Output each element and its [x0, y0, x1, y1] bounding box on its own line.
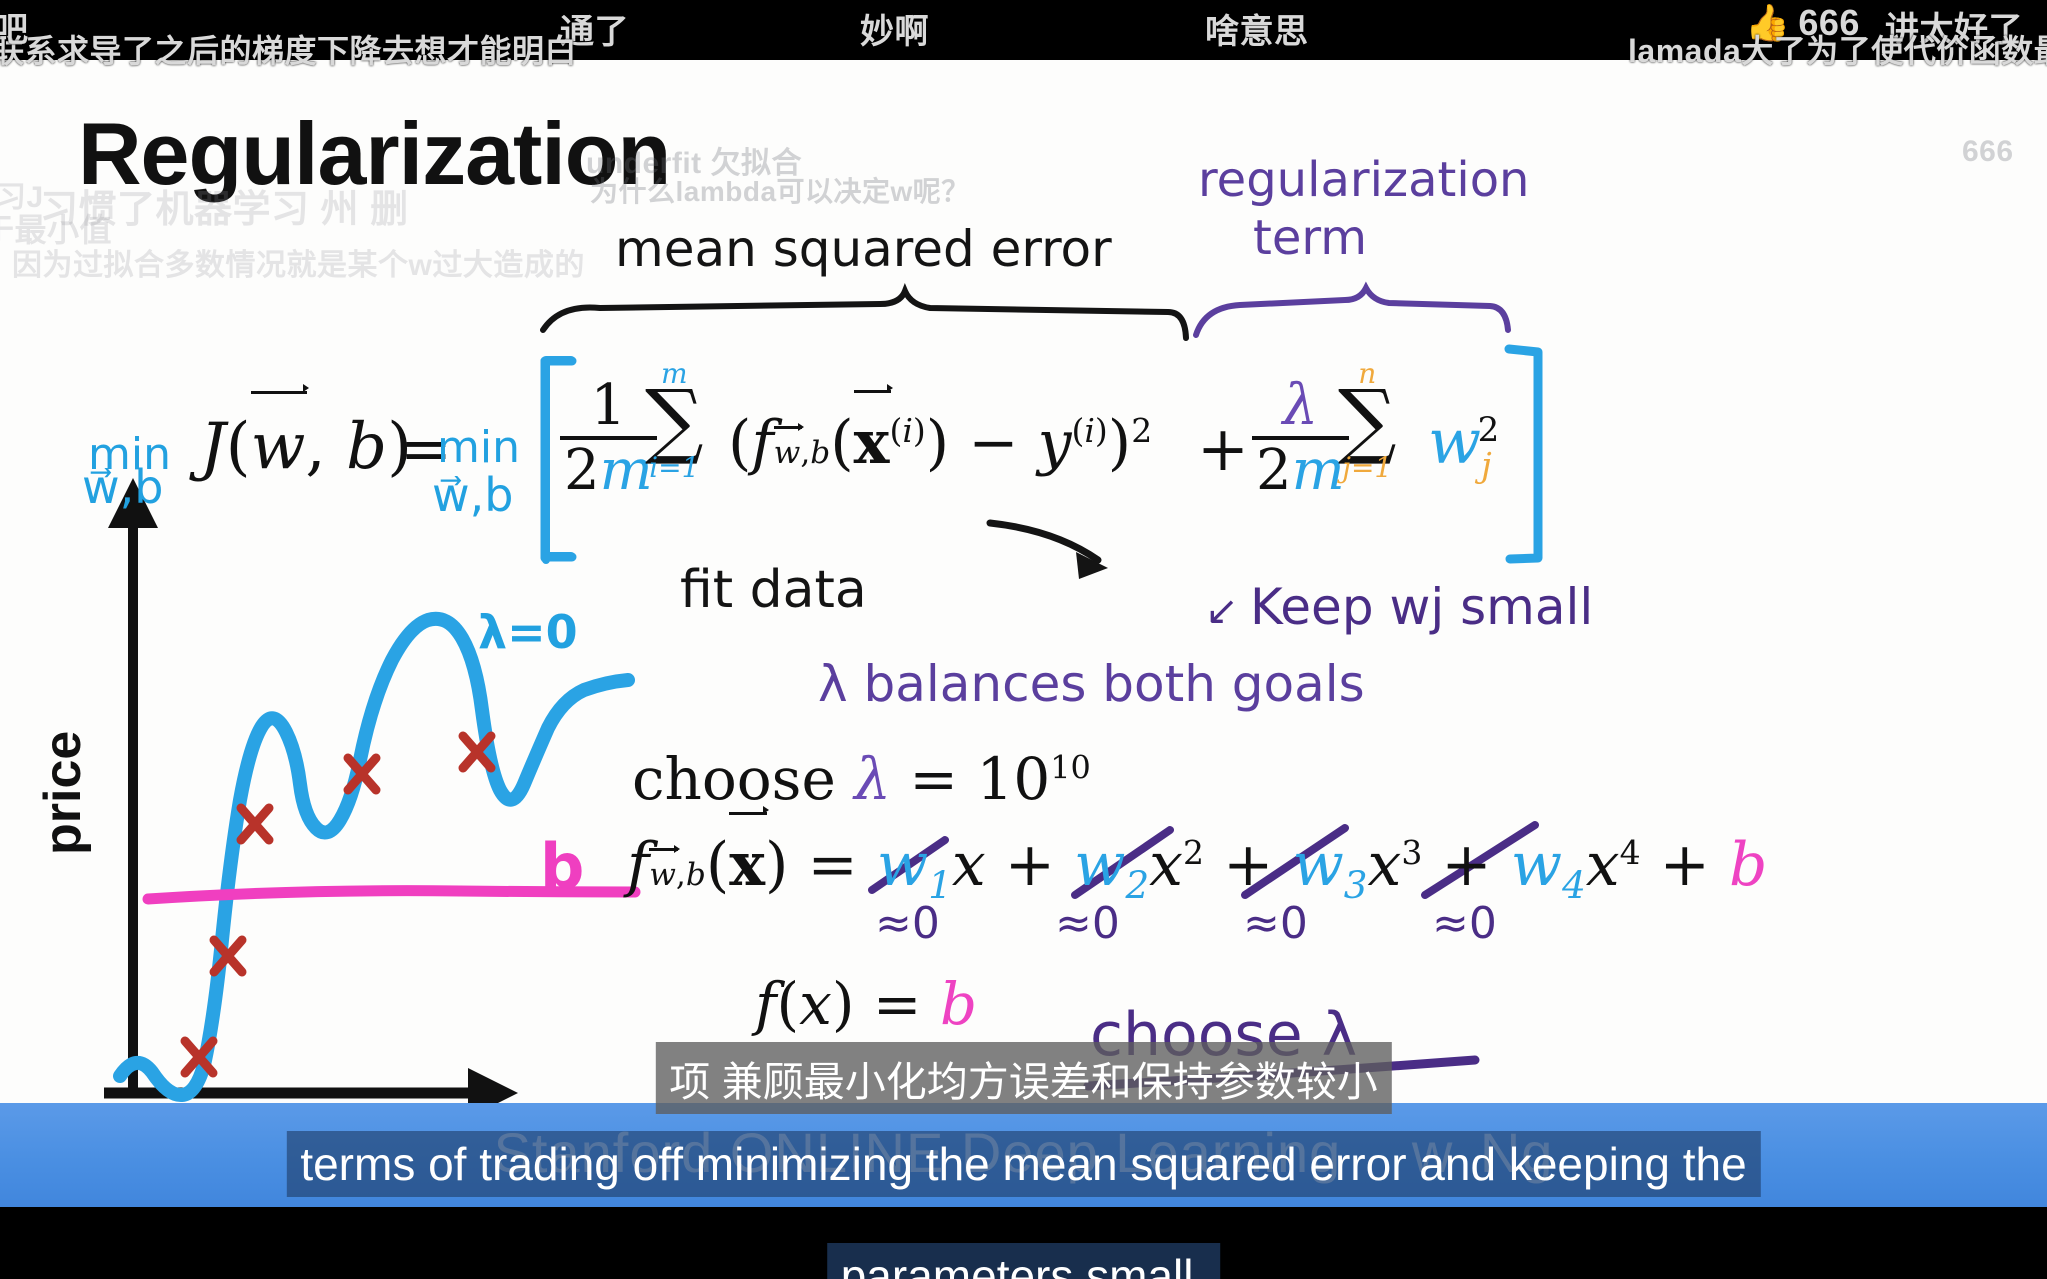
- danmaku-comment: 为什么lambda可以决定w呢？: [590, 170, 970, 210]
- danmaku-comment: 妙啊: [860, 4, 929, 53]
- min-subscript-right: w⃗,b: [432, 468, 513, 522]
- danmaku-comment: lamada大了为了使代价函数最小就: [1628, 26, 2047, 72]
- danmaku-comment: 联系求导了之后的梯度下降去想才能明白: [0, 26, 577, 72]
- danmaku-text: 啥意思: [1205, 13, 1309, 51]
- reg-sum-lower: j=1: [1338, 454, 1397, 482]
- lambda-zero-curve-label: λ=0: [478, 605, 578, 659]
- mse-fraction: 1 2m: [560, 378, 657, 499]
- keep-small-arrow-icon: ↙: [1205, 588, 1239, 634]
- choose-lambda-equation: choose λ = 1010: [632, 745, 1091, 813]
- cost-function-label: J(w, b): [200, 410, 412, 484]
- mse-sum-lower: i=1: [645, 454, 704, 482]
- approx-zero-w3: ≈0: [1243, 898, 1308, 949]
- danmaku-text: 联系求导了之后的梯度下降去想才能明白: [0, 33, 577, 69]
- reg-summation: n ∑ j=1: [1338, 360, 1397, 482]
- danmaku-comment: 因为过拟合多数情况就是某个w过大造成的: [12, 240, 585, 284]
- approx-zero-w2: ≈0: [1055, 898, 1120, 949]
- plus-sign: +: [1197, 412, 1249, 485]
- chart-y-axis-label: price: [33, 731, 93, 855]
- polynomial-equation: fw,b(x) = w1x + w2x2 + w3x3 + w4x4 + b: [627, 830, 1767, 907]
- fx-equals-b: f(x) = b: [755, 970, 977, 1038]
- video-player-frame: Regularization mean squared error regula…: [0, 0, 2047, 1279]
- fit-data-label: fit data: [680, 560, 867, 620]
- danmaku-comment: 吧: [0, 2, 29, 51]
- keep-wj-small-label: Keep wj small: [1250, 578, 1593, 636]
- regularization-brace-label-line2: term: [1253, 210, 1367, 266]
- mse-brace-label: mean squared error: [615, 220, 1112, 278]
- danmaku-text: 666: [1962, 135, 2014, 168]
- reg-fraction: λ 2m: [1252, 378, 1349, 499]
- mse-body: (fw,b(x(i)) − y(i))2: [728, 408, 1152, 478]
- danmaku-comment: 666: [1962, 135, 2014, 169]
- danmaku-comment: 啥意思: [1205, 4, 1309, 53]
- danmaku-text: lamada大了为了使代价函数最小就: [1628, 33, 2047, 69]
- min-subscript-left: w⃗,b: [82, 460, 163, 514]
- danmaku-text: 妙啊: [860, 13, 929, 51]
- lecture-slide: Regularization mean squared error regula…: [0, 60, 2047, 1200]
- danmaku-text: 因为过拟合多数情况就是某个w过大造成的: [12, 249, 585, 282]
- b-line-label: b: [540, 830, 584, 903]
- danmaku-comment: 习惯了机器学习 州 删: [40, 178, 409, 233]
- min-label-right: min: [437, 422, 520, 473]
- approx-zero-w4: ≈0: [1432, 898, 1497, 949]
- danmaku-text: 习惯了机器学习 州 删: [40, 189, 409, 231]
- lambda-symbol: λ: [1283, 373, 1319, 438]
- danmaku-text: 为什么lambda可以决定w呢？: [590, 176, 970, 207]
- danmaku-top-layer: 通了妙啊啥意思👍666讲太好了联系求导了之后的梯度下降去想才能明白lamada大…: [0, 0, 2047, 60]
- approx-zero-w1: ≈0: [875, 898, 940, 949]
- reg-body: wj2: [1428, 405, 1499, 485]
- regularization-brace-label-line1: regularization: [1198, 152, 1529, 208]
- mse-numerator: 1: [560, 378, 657, 436]
- subtitle-english-line2: parameters small.: [827, 1243, 1221, 1279]
- mse-summation: m ∑ i=1: [645, 360, 704, 482]
- subtitle-english-line1: terms of trading off minimizing the mean…: [286, 1131, 1760, 1197]
- lambda-balances-label: λ balances both goals: [818, 655, 1365, 713]
- danmaku-text: 吧: [0, 11, 29, 49]
- subtitle-chinese: 项 兼顾最小化均方误差和保持参数较小: [655, 1042, 1391, 1114]
